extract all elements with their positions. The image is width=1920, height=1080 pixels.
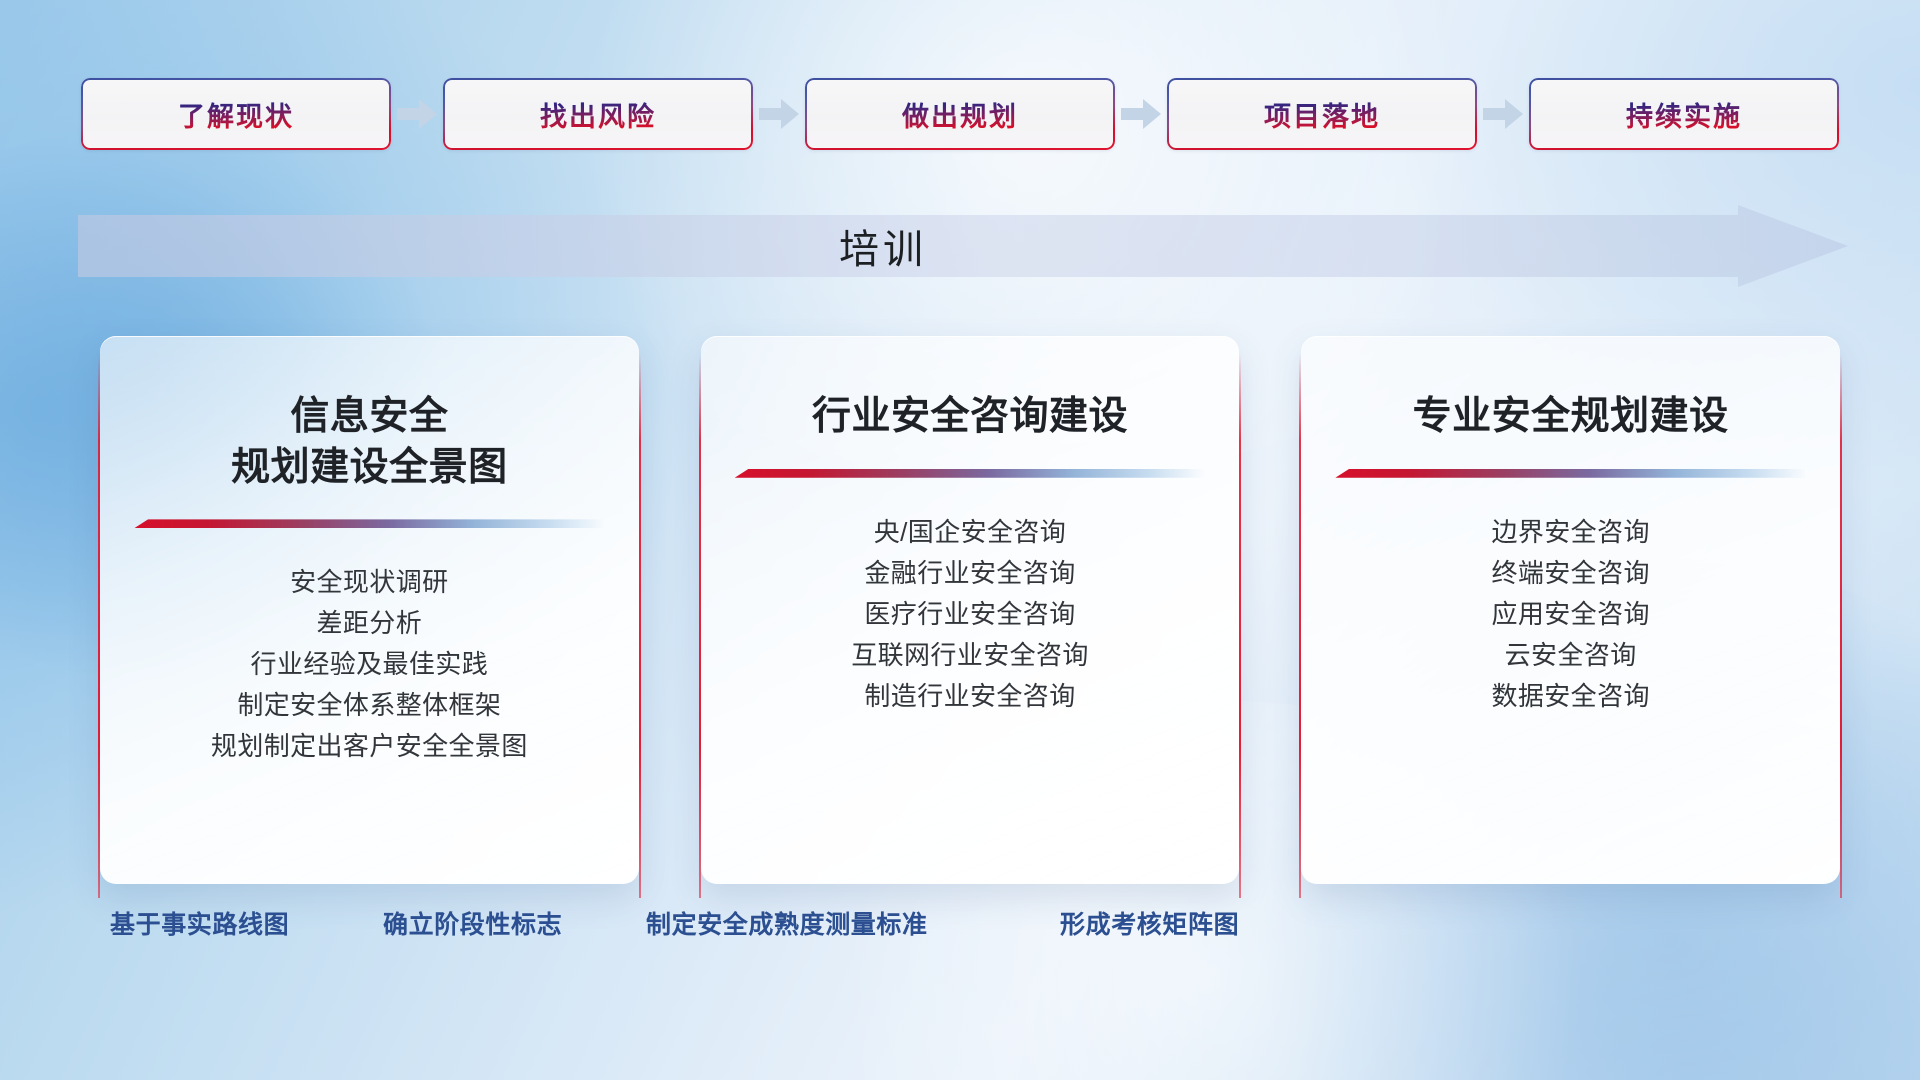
step-chip-label: 持续实施 [1626, 95, 1742, 134]
step-chip-5[interactable]: 持续实施 [1529, 78, 1839, 150]
capability-card-1[interactable]: 信息安全 规划建设全景图 安全现状调研 差距分析 行业经验及最佳实践 制定安全体… [100, 336, 639, 884]
training-banner: 培训 [78, 205, 1848, 287]
caption-3: 制定安全成熟度测量标准 [646, 905, 928, 941]
card-divider [735, 469, 1206, 478]
card-title: 专业安全规划建设 [1413, 392, 1729, 443]
card-title: 信息安全 规划建设全景图 [231, 392, 508, 493]
step-chip-1[interactable]: 了解现状 [81, 78, 391, 150]
step-chip-label: 项目落地 [1264, 95, 1380, 134]
step-chip-2[interactable]: 找出风险 [443, 78, 753, 150]
list-item: 央/国企安全咨询 [874, 512, 1066, 553]
list-item: 行业经验及最佳实践 [251, 644, 489, 685]
capability-card-3[interactable]: 专业安全规划建设 边界安全咨询 终端安全咨询 应用安全咨询 云安全咨询 数据安全… [1301, 336, 1840, 884]
caption-2: 确立阶段性标志 [383, 905, 562, 941]
card-item-list: 央/国企安全咨询 金融行业安全咨询 医疗行业安全咨询 互联网行业安全咨询 制造行… [851, 512, 1089, 717]
card-content: 信息安全 规划建设全景图 安全现状调研 差距分析 行业经验及最佳实践 制定安全体… [100, 336, 639, 884]
card-item-list: 边界安全咨询 终端安全咨询 应用安全咨询 云安全咨询 数据安全咨询 [1491, 512, 1649, 717]
slide-canvas: 了解现状 找出风险 做出规划 项目落地 [0, 0, 1920, 1080]
arrow-right-icon [1115, 78, 1167, 150]
banner-label: 培训 [78, 205, 1688, 287]
step-chip-label: 了解现状 [178, 95, 294, 134]
list-item: 数据安全咨询 [1491, 676, 1649, 717]
arrow-right-icon [391, 78, 443, 150]
capability-card-2[interactable]: 行业安全咨询建设 央/国企安全咨询 金融行业安全咨询 医疗行业安全咨询 互联网行… [701, 336, 1240, 884]
arrow-right-icon [753, 78, 805, 150]
list-item: 边界安全咨询 [1491, 512, 1649, 553]
capability-cards: 信息安全 规划建设全景图 安全现状调研 差距分析 行业经验及最佳实践 制定安全体… [100, 336, 1840, 884]
caption-1: 基于事实路线图 [110, 905, 289, 941]
step-chip-label: 做出规划 [902, 95, 1018, 134]
card-divider [134, 519, 605, 528]
card-content: 专业安全规划建设 边界安全咨询 终端安全咨询 应用安全咨询 云安全咨询 数据安全… [1301, 336, 1840, 884]
list-item: 规划制定出客户安全全景图 [211, 726, 528, 767]
list-item: 终端安全咨询 [1491, 553, 1649, 594]
list-item: 金融行业安全咨询 [864, 553, 1075, 594]
list-item: 制定安全体系整体框架 [237, 685, 501, 726]
card-title: 行业安全咨询建设 [812, 392, 1128, 443]
process-steps: 了解现状 找出风险 做出规划 项目落地 [0, 78, 1920, 150]
card-content: 行业安全咨询建设 央/国企安全咨询 金融行业安全咨询 医疗行业安全咨询 互联网行… [701, 336, 1240, 884]
list-item: 差距分析 [317, 603, 423, 644]
card-divider [1335, 469, 1806, 478]
outcome-captions: 基于事实路线图 确立阶段性标志 制定安全成熟度测量标准 形成考核矩阵图 [100, 905, 1840, 955]
step-chip-label: 找出风险 [540, 95, 656, 134]
step-chip-4[interactable]: 项目落地 [1167, 78, 1477, 150]
card-item-list: 安全现状调研 差距分析 行业经验及最佳实践 制定安全体系整体框架 规划制定出客户… [211, 562, 528, 767]
list-item: 安全现状调研 [290, 562, 448, 603]
step-chip-3[interactable]: 做出规划 [805, 78, 1115, 150]
list-item: 互联网行业安全咨询 [851, 635, 1089, 676]
caption-4: 形成考核矩阵图 [1060, 905, 1239, 941]
arrow-right-icon [1477, 78, 1529, 150]
list-item: 应用安全咨询 [1491, 594, 1649, 635]
list-item: 云安全咨询 [1505, 635, 1637, 676]
list-item: 制造行业安全咨询 [864, 676, 1075, 717]
list-item: 医疗行业安全咨询 [864, 594, 1075, 635]
